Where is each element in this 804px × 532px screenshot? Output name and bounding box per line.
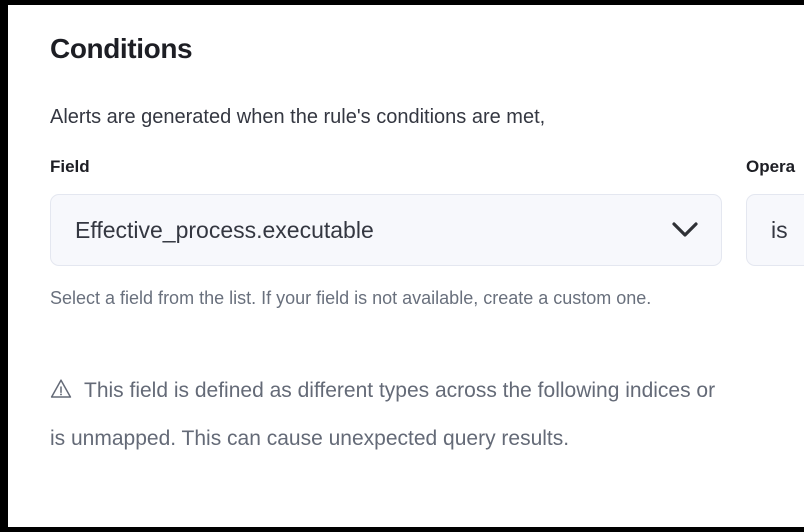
field-select-value: Effective_process.executable <box>51 216 663 244</box>
field-helper-text: Select a field from the list. If your fi… <box>50 283 690 314</box>
panel-body: Conditions Alerts are generated when the… <box>50 5 804 527</box>
field-warning: This field is defined as different types… <box>50 367 730 463</box>
page-title: Conditions <box>50 32 192 66</box>
conditions-panel: Conditions Alerts are generated when the… <box>8 5 804 527</box>
warning-triangle-icon <box>50 378 72 400</box>
field-label: Field <box>50 155 722 179</box>
panel-description: Alerts are generated when the rule's con… <box>50 102 545 132</box>
screenshot-frame: Conditions Alerts are generated when the… <box>0 0 804 532</box>
operator-select[interactable]: is <box>746 194 804 266</box>
operator-column: Opera is <box>746 155 804 266</box>
field-warning-text: This field is defined as different types… <box>50 379 715 450</box>
chevron-down-icon[interactable] <box>663 208 707 252</box>
field-select[interactable]: Effective_process.executable <box>50 194 722 266</box>
operator-select-value: is <box>747 216 804 244</box>
operator-label: Opera <box>746 155 804 179</box>
field-column: Field Effective_process.executable <box>50 155 722 266</box>
